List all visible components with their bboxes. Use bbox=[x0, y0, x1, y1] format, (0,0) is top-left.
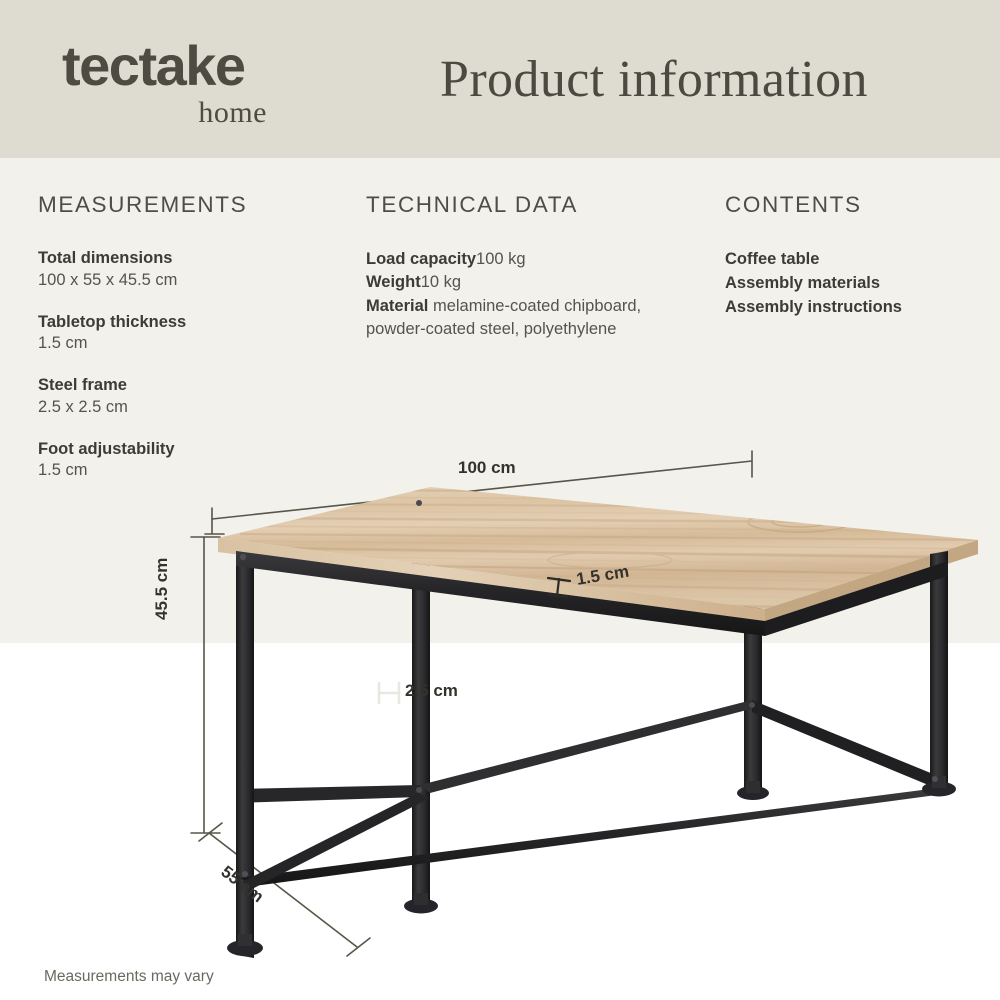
footer-disclaimer: Measurements may vary bbox=[44, 968, 214, 986]
spec-value: 10 kg bbox=[421, 273, 461, 291]
spec-value: 1.5 cm bbox=[38, 460, 338, 482]
spec-value: 100 x 55 x 45.5 cm bbox=[38, 270, 338, 292]
spec-load-capacity: Load capacity100 kg bbox=[366, 248, 696, 271]
measurements-heading: MEASUREMENTS bbox=[38, 192, 338, 218]
spec-weight: Weight10 kg bbox=[366, 271, 696, 294]
spec-value: 2.5 x 2.5 cm bbox=[38, 397, 338, 419]
spec-label: Total dimensions bbox=[38, 248, 338, 270]
dimension-label-height: 45.5 cm bbox=[152, 558, 172, 620]
spec-foot-adjustability: Foot adjustability 1.5 cm bbox=[38, 439, 338, 483]
spec-tabletop-thickness: Tabletop thickness 1.5 cm bbox=[38, 312, 338, 356]
spec-label: Tabletop thickness bbox=[38, 312, 338, 334]
dimension-label-frame-profile: 2.5 cm bbox=[405, 681, 458, 701]
spec-label: Steel frame bbox=[38, 375, 338, 397]
spec-label: Weight bbox=[366, 273, 421, 291]
spec-label: Material bbox=[366, 297, 428, 315]
contents-heading: CONTENTS bbox=[725, 192, 990, 218]
brand-sub: home bbox=[62, 98, 267, 128]
brand-logo: tectake home bbox=[62, 38, 302, 128]
contents-item: Assembly instructions bbox=[725, 296, 990, 320]
floor-band bbox=[0, 643, 1000, 1000]
spec-label: Foot adjustability bbox=[38, 439, 338, 461]
spec-value: 100 kg bbox=[476, 250, 526, 268]
product-information-sheet: tectake home Product information MEASURE… bbox=[0, 0, 1000, 1000]
measurements-column: MEASUREMENTS Total dimensions 100 x 55 x… bbox=[38, 192, 338, 502]
spec-total-dimensions: Total dimensions 100 x 55 x 45.5 cm bbox=[38, 248, 338, 292]
technical-data-heading: TECHNICAL DATA bbox=[366, 192, 696, 218]
brand-name: tectake bbox=[62, 38, 302, 94]
contents-item: Assembly materials bbox=[725, 272, 990, 296]
spec-label: Load capacity bbox=[366, 250, 476, 268]
contents-item: Coffee table bbox=[725, 248, 990, 272]
dimension-label-width: 100 cm bbox=[458, 458, 516, 478]
contents-column: CONTENTS Coffee table Assembly materials… bbox=[725, 192, 990, 320]
spec-material: Material melamine-coated chipboard, powd… bbox=[366, 295, 696, 342]
page-title: Product information bbox=[440, 50, 980, 109]
spec-steel-frame: Steel frame 2.5 x 2.5 cm bbox=[38, 375, 338, 419]
spec-value: 1.5 cm bbox=[38, 333, 338, 355]
technical-data-column: TECHNICAL DATA Load capacity100 kg Weigh… bbox=[366, 192, 696, 342]
